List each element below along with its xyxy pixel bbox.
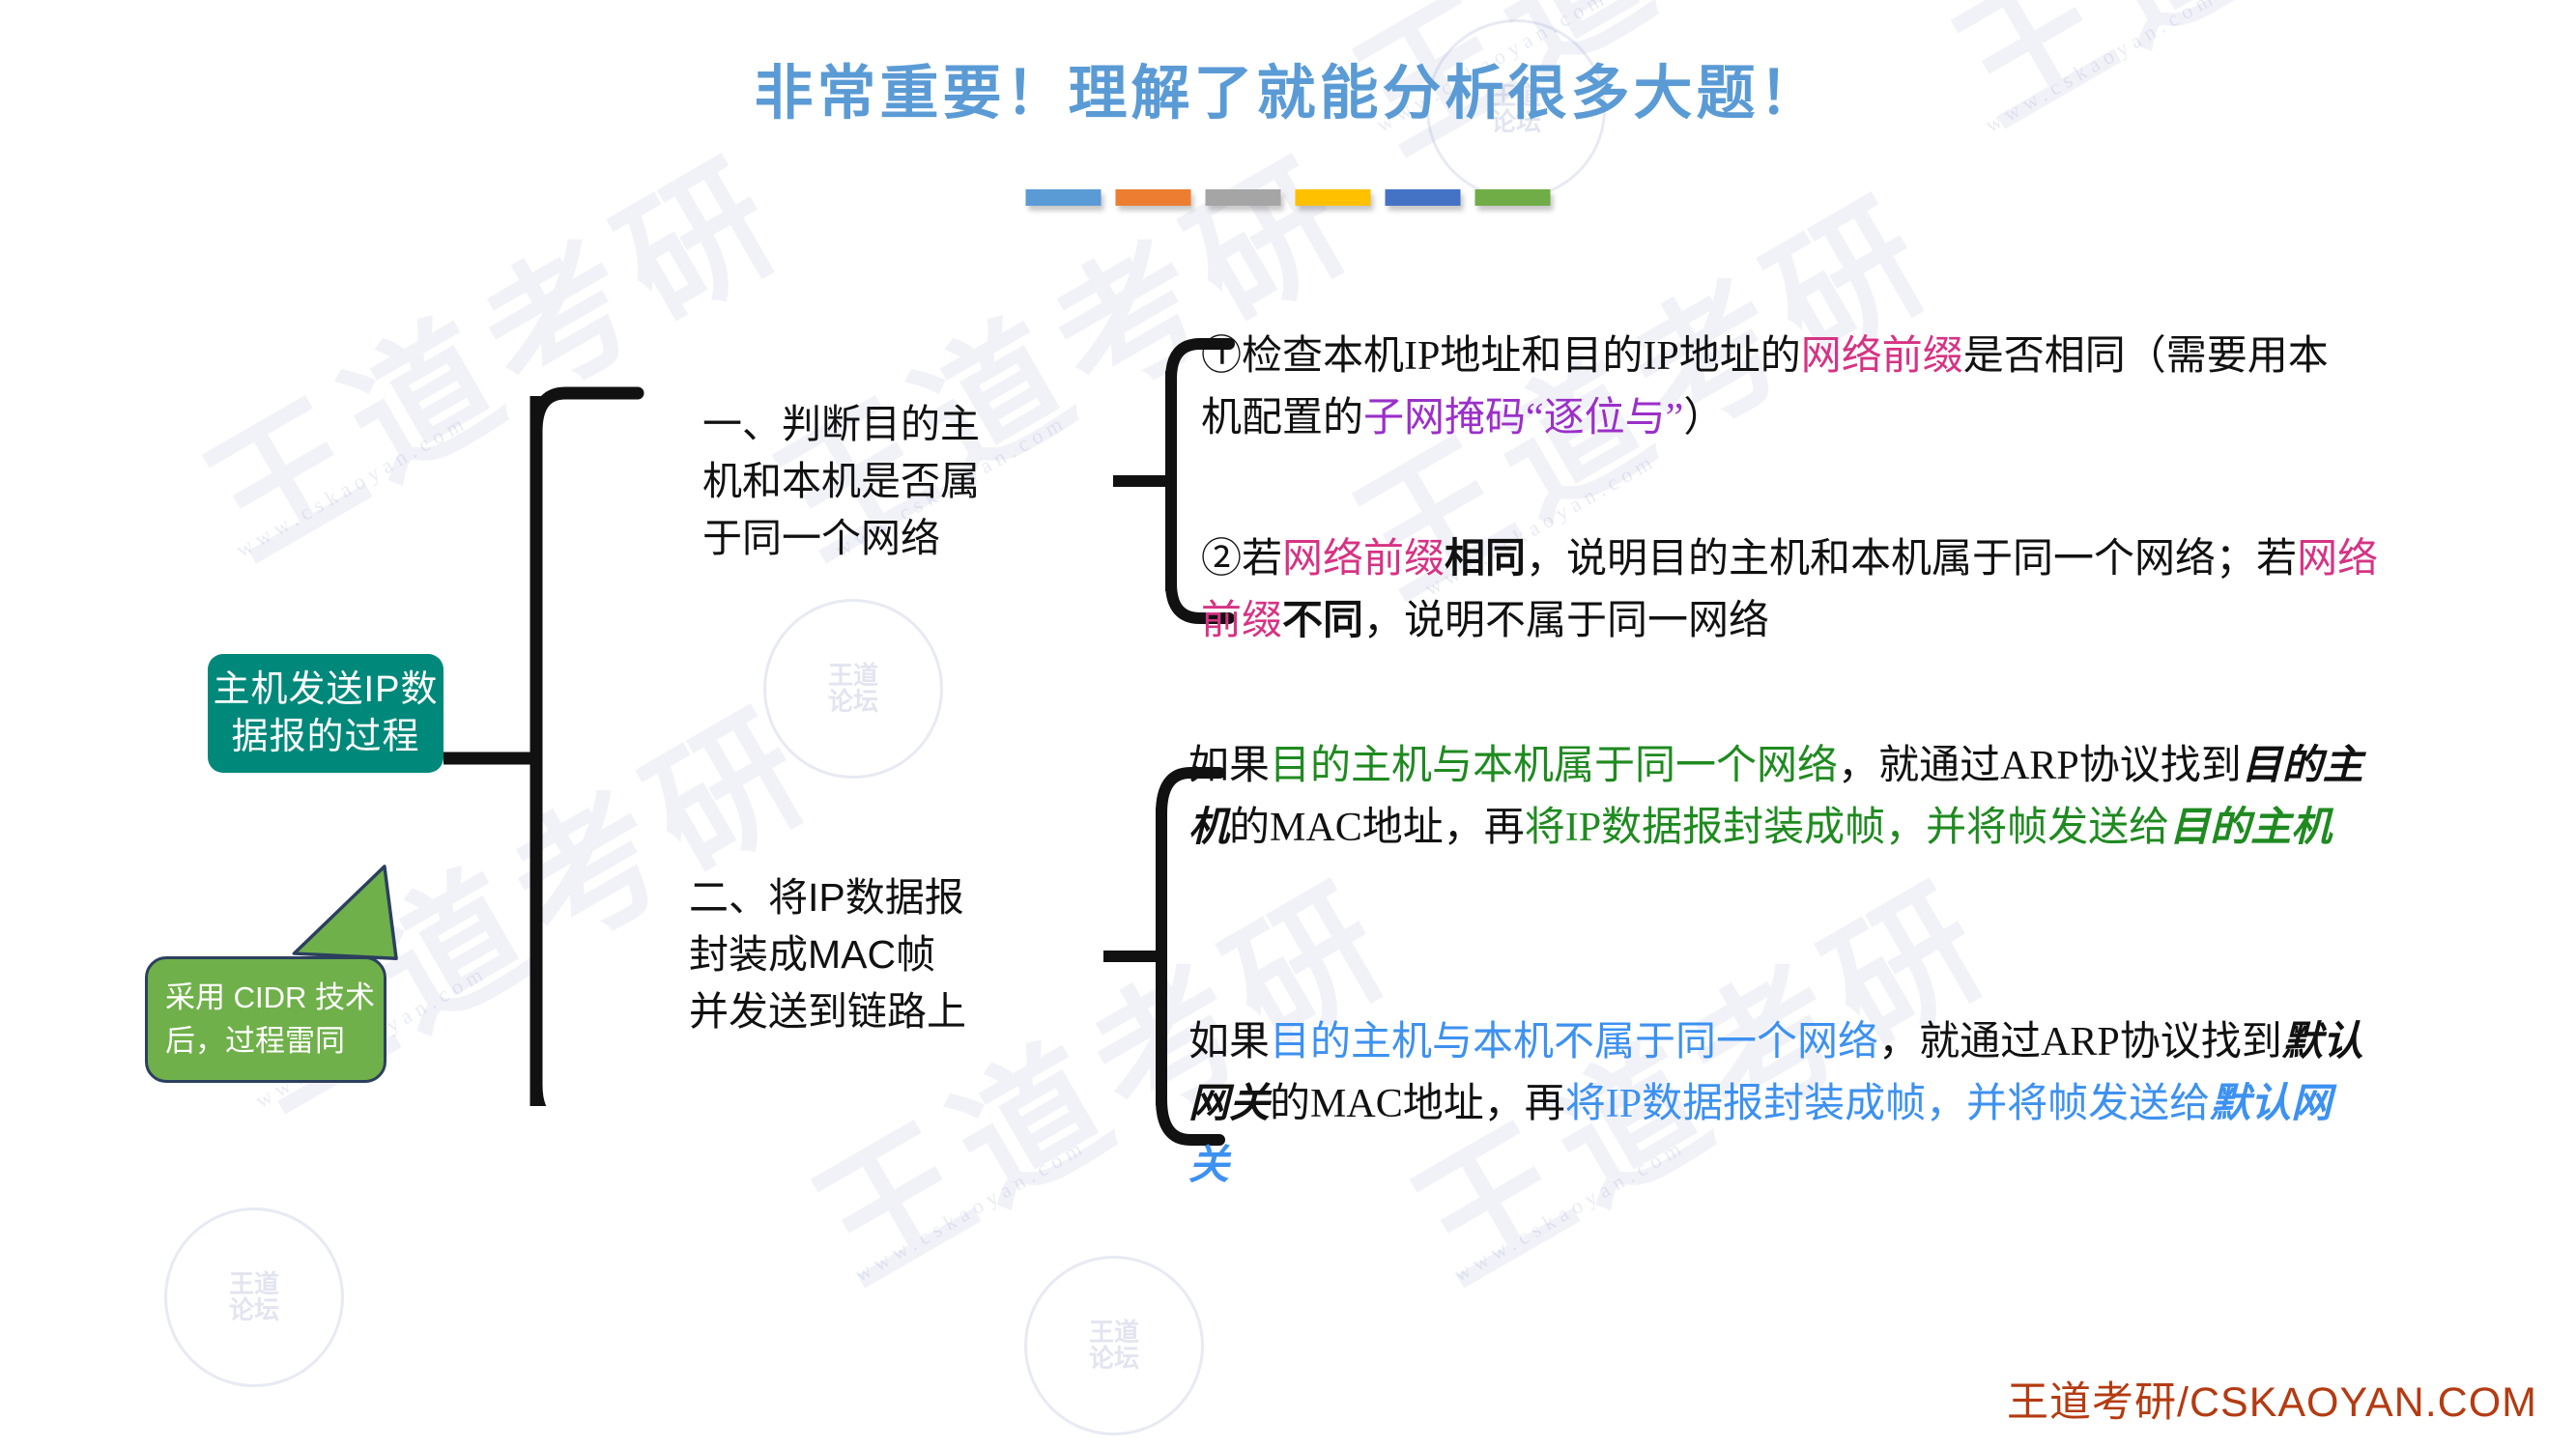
branch-label-step-two[interactable]: 二、将IP数据报 封装成MAC帧 并发送到链路上	[689, 869, 1095, 1040]
text-run-1: 网络前缀	[1801, 334, 1963, 379]
text-run-0: ①检查本机IP地址和目的IP地址的	[1201, 334, 1801, 379]
text-run-6: 的MAC地址，再	[1270, 1082, 1565, 1126]
watermark-seal-4: 王道论坛	[1024, 1256, 1204, 1435]
text-run-7: 将IP数据报封装成帧，并将帧发送给	[1565, 1082, 2210, 1126]
text-run-2: 与	[1432, 1020, 1473, 1065]
root-node[interactable]: 主机发送IP数 据报的过程	[208, 654, 444, 773]
cidr-callout-label: 采用 CIDR 技术 后，过程雷同	[165, 977, 375, 1062]
text-run-7: 将IP数据报封装成帧，并将帧发送给	[1525, 806, 2169, 850]
watermark-seal-3: 王道论坛	[164, 1207, 344, 1387]
text-run-1: 目的主机	[1270, 1020, 1432, 1065]
text-run-2: 与	[1432, 744, 1473, 788]
text-run-4: ）	[1683, 396, 1724, 440]
text-run-3: 本机不属于同一个网络	[1473, 1020, 1878, 1065]
watermark-url-3: www.cskaoyan.com	[232, 410, 472, 563]
text-run-0: 如果	[1188, 1020, 1270, 1065]
text-run-5: 不同	[1282, 599, 1363, 643]
detail-paragraph-4: 如果目的主机与本机不属于同一个网络，就通过ARP协议找到默认网关的MAC地址，再…	[1188, 1012, 2367, 1197]
root-node-label: 主机发送IP数 据报的过程	[214, 667, 439, 760]
watermark-url-7: www.cskaoyan.com	[850, 1134, 1091, 1288]
text-run-4: ，就通过ARP协议找到	[1838, 744, 2242, 788]
text-run-0: 如果	[1188, 744, 1270, 788]
detail-paragraph-3: 如果目的主机与本机属于同一个网络，就通过ARP协议找到目的主机的MAC地址，再将…	[1188, 736, 2367, 860]
footer-brand: 王道考研/CSKAOYAN.COM	[2007, 1369, 2537, 1429]
text-run-2: 相同	[1445, 537, 1526, 582]
branch-label-step-one[interactable]: 一、判断目的主 机和本机是否属 于同一个网络	[702, 396, 1089, 567]
page-title: 非常重要！理解了就能分析很多大题！	[0, 44, 2576, 130]
colorbar-segment-yellow	[1296, 189, 1371, 206]
root-bracket	[440, 372, 701, 1106]
text-run-8: 目的主机	[2169, 806, 2332, 850]
text-run-6: 的MAC地址，再	[1229, 806, 1525, 850]
slide-canvas: 王道考研 王道考研 王道考研 王道考研 王道考研 王道考研 王道考研 王道考研 …	[0, 0, 2576, 1448]
text-run-1: 目的主机	[1270, 744, 1432, 788]
text-run-3: 本机属于同一个网络	[1473, 744, 1838, 788]
text-run-1: 网络前缀	[1282, 537, 1445, 582]
colorbar-segment-orange	[1116, 189, 1191, 206]
colorbar-segment-gray	[1206, 189, 1281, 206]
colorbar-segment-navy	[1386, 189, 1461, 206]
colorbar-segment-blue	[1026, 189, 1102, 206]
detail-paragraph-2: ②若网络前缀相同，说明目的主机和本机属于同一个网络；若网络前缀不同，说明不属于同…	[1201, 529, 2390, 653]
text-run-4: ，就通过ARP协议找到	[1878, 1020, 2282, 1065]
text-run-0: ②若	[1201, 537, 1282, 582]
cidr-callout[interactable]: 采用 CIDR 技术 后，过程雷同	[145, 956, 386, 1083]
text-run-6: ，说明不属于同一网络	[1363, 599, 1769, 643]
text-run-3: ，说明目的主机和本机属于同一个网络；若	[1526, 537, 2297, 582]
text-run-3: 子网掩码“逐位与”	[1363, 396, 1683, 440]
detail-paragraph-1: ①检查本机IP地址和目的IP地址的网络前缀是否相同（需要用本机配置的子网掩码“逐…	[1201, 327, 2361, 450]
title-color-bar	[1026, 189, 1551, 206]
watermark-seal-2: 王道论坛	[763, 599, 943, 779]
colorbar-segment-green	[1475, 189, 1551, 206]
